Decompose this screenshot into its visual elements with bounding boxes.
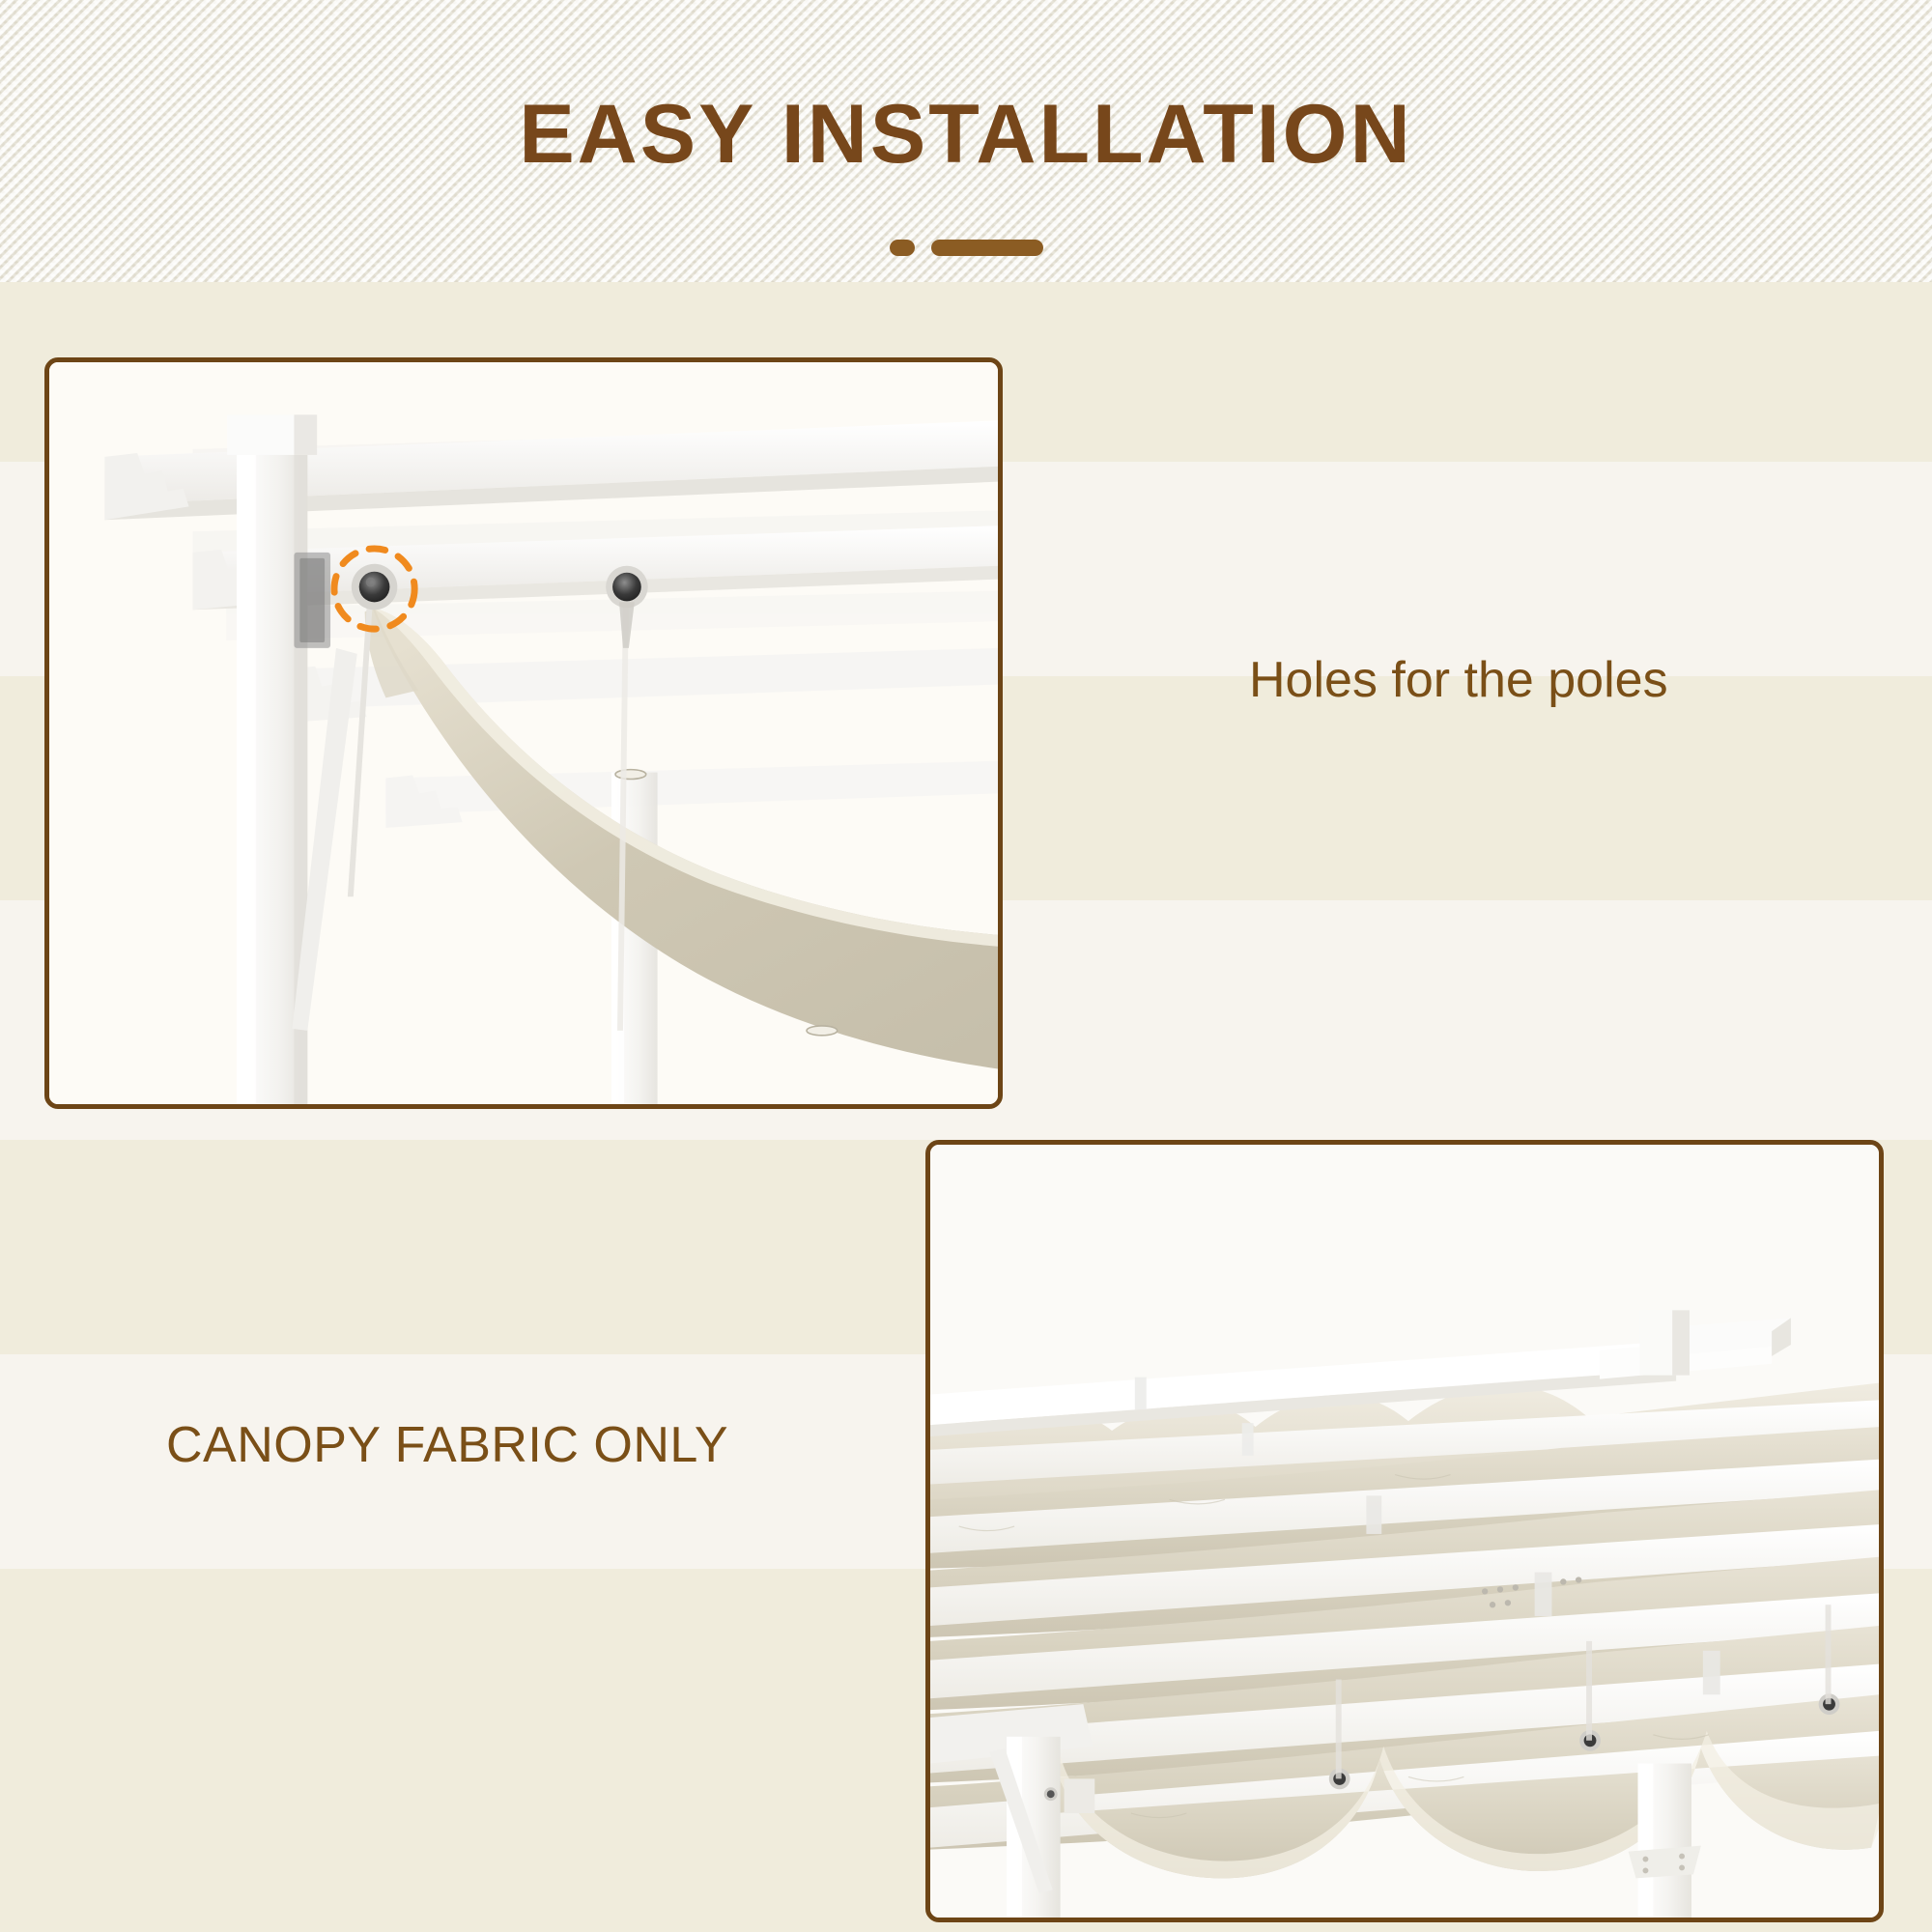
pergola-corner-with-canopy-grommet-art [49,362,998,1104]
divider-dot-icon [890,240,915,256]
header-banner: EASY INSTALLATION [0,0,1932,282]
callout-holes-for-poles: Holes for the poles [1249,652,1668,710]
panel-canopy-fabric-only [925,1140,1884,1922]
promo-graphic-page: EASY INSTALLATION [0,0,1932,1932]
title-divider [0,240,1932,256]
divider-bar-icon [931,240,1043,256]
panel-holes-for-poles [44,357,1003,1109]
page-title: EASY INSTALLATION [0,93,1932,176]
pergola-full-scalloped-canopy-art [930,1145,1879,1918]
callout-canopy-fabric-only: CANOPY FABRIC ONLY [166,1417,728,1475]
